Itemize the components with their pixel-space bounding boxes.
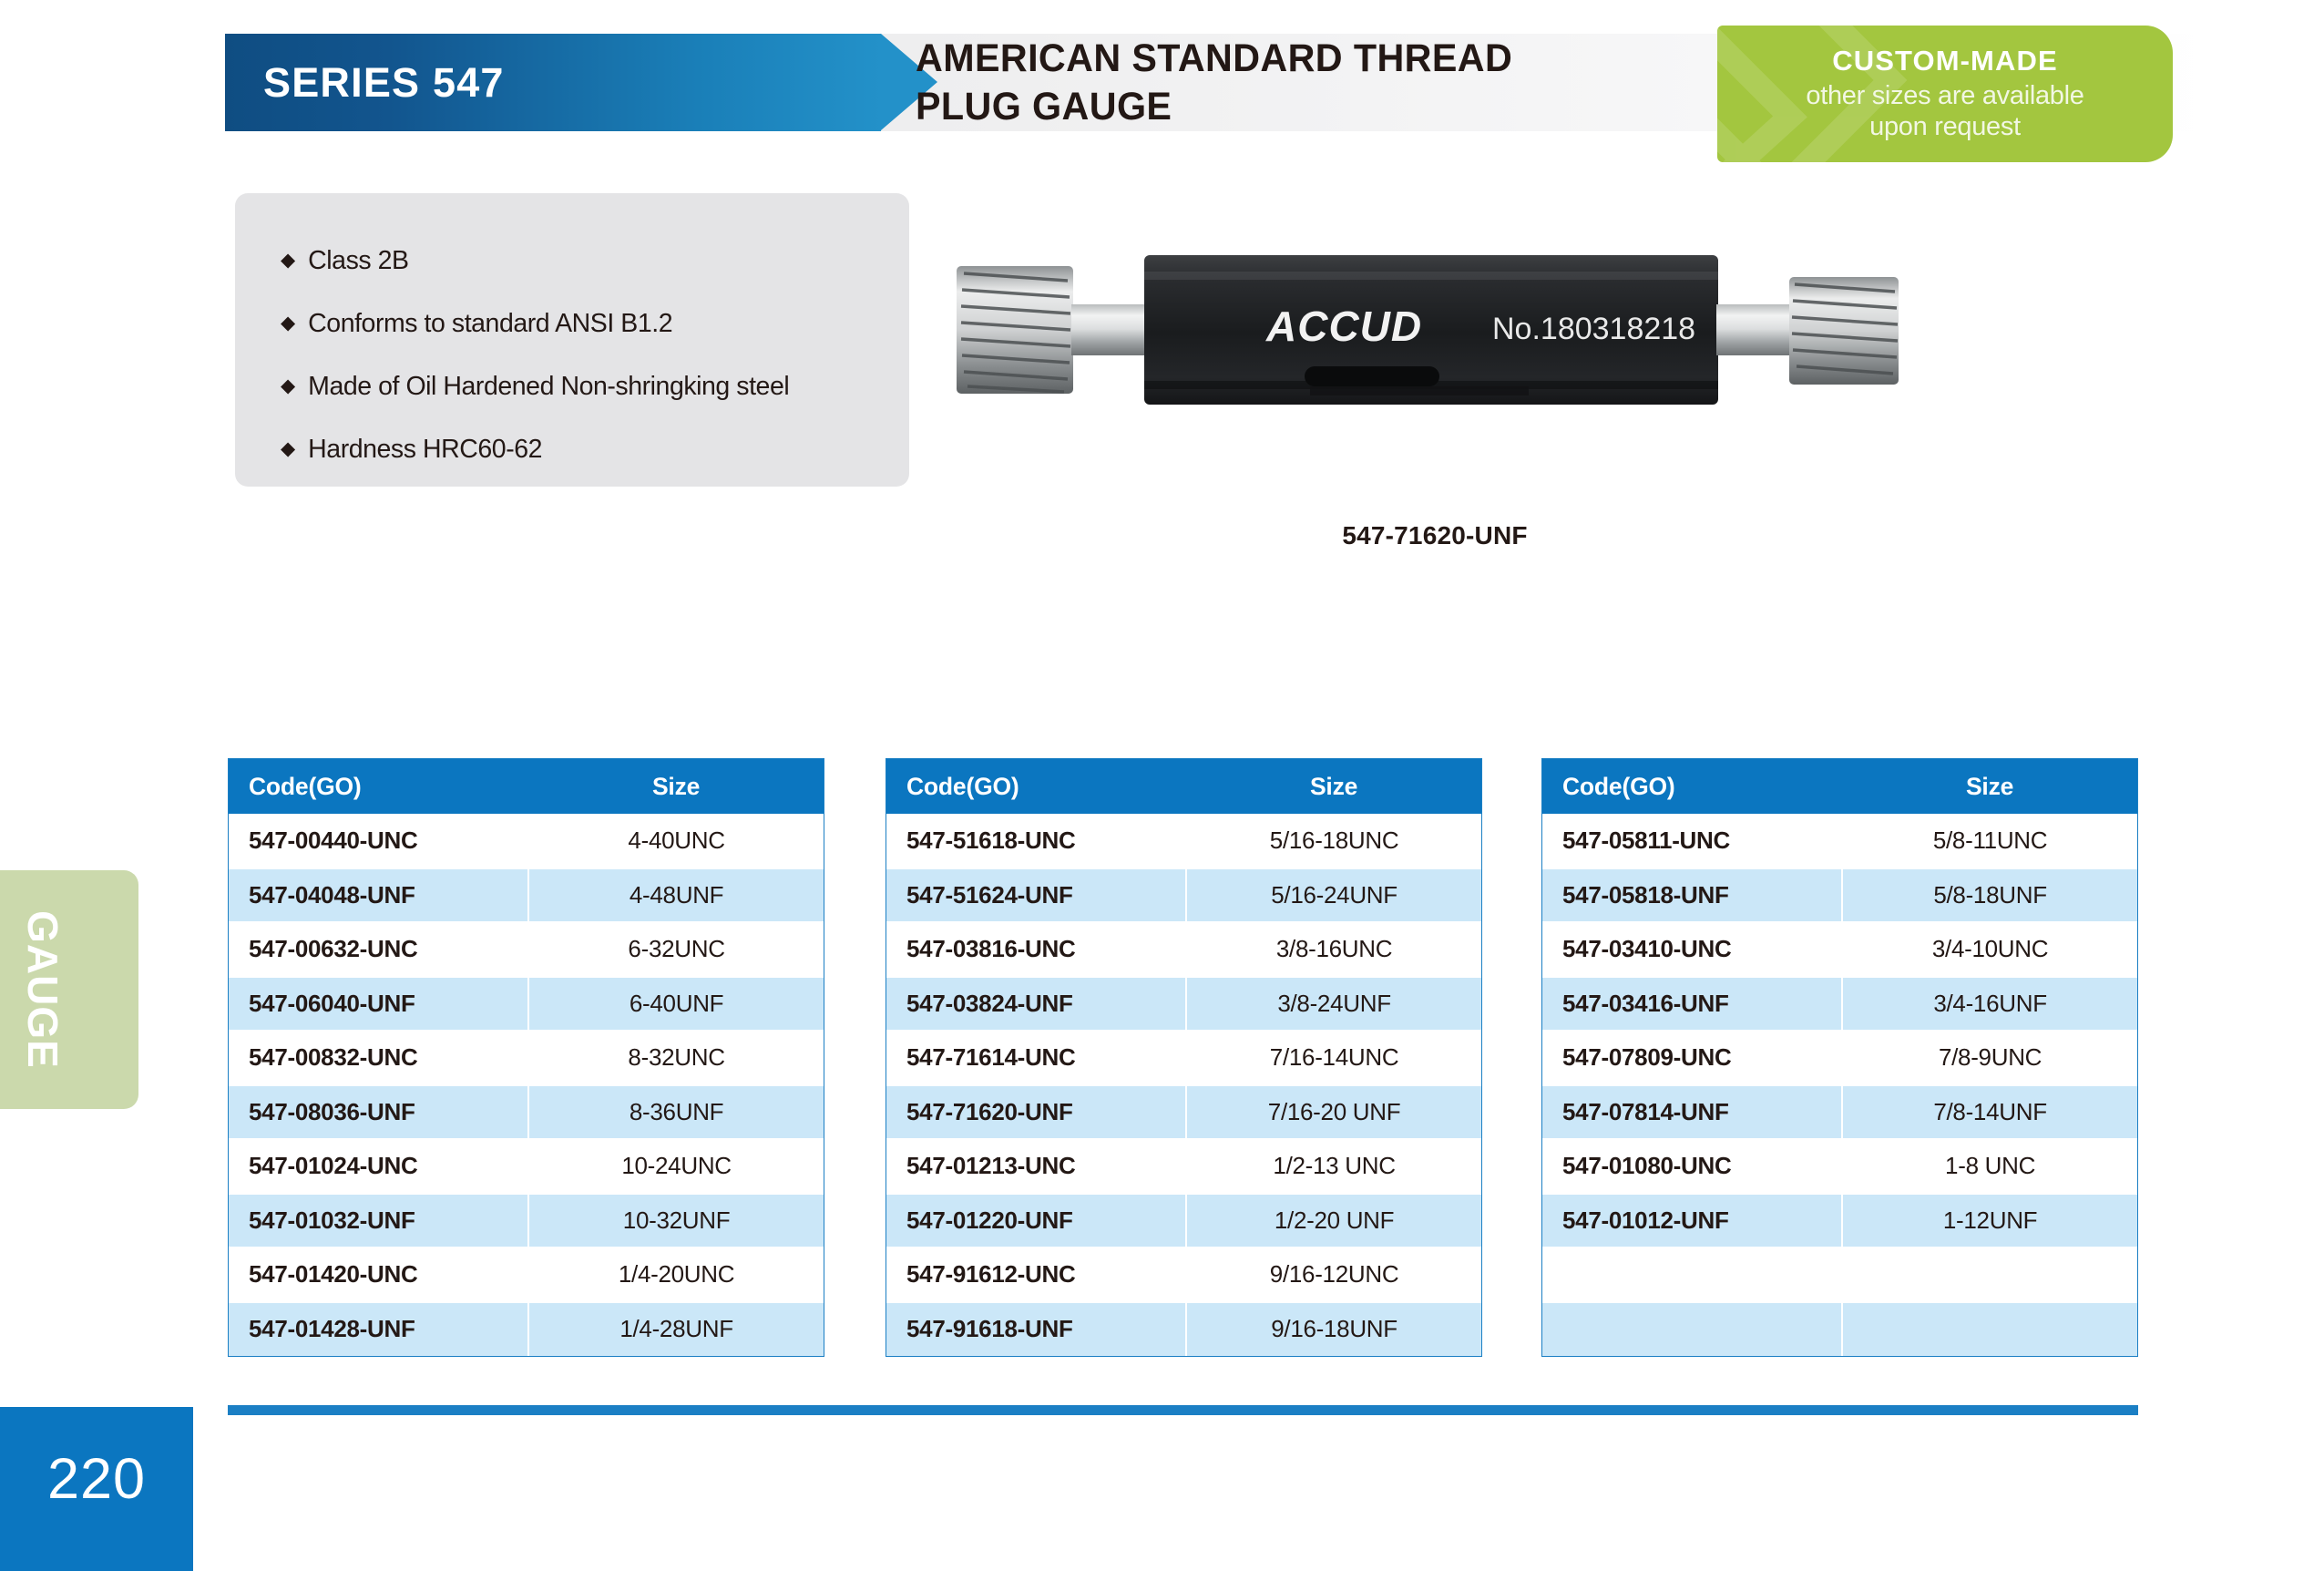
table-row: 547-01032-UNF10-32UNF (229, 1194, 824, 1248)
cell-code: 547-08036-UNF (229, 1085, 528, 1140)
cell-size: 1/4-28UNF (528, 1302, 824, 1357)
cell-size: 1/2-13 UNC (1186, 1139, 1481, 1194)
column-header-code: Code(GO) (1542, 759, 1842, 814)
cell-size: 3/8-16UNC (1186, 922, 1481, 977)
table-row: 547-51624-UNF5/16-24UNF (886, 868, 1481, 923)
cell-size (1842, 1248, 2137, 1302)
cell-code: 547-91618-UNF (886, 1302, 1186, 1357)
column-header-size: Size (528, 759, 824, 814)
cell-size: 5/8-11UNC (1842, 814, 2137, 868)
list-item: ◆ Made of Oil Hardened Non-shringking st… (281, 372, 909, 402)
cell-size: 4-40UNC (528, 814, 824, 868)
page-title: AMERICAN STANDARD THREAD PLUG GAUGE (916, 33, 1729, 133)
table-row: 547-01420-UNC1/4-20UNC (229, 1248, 824, 1302)
cell-code: 547-06040-UNF (229, 977, 528, 1032)
sidebar-tab-label: GAUGE (18, 910, 67, 1069)
feature-text: Hardness HRC60-62 (308, 435, 542, 465)
cell-code: 547-01428-UNF (229, 1302, 528, 1357)
cell-size: 9/16-18UNF (1186, 1302, 1481, 1357)
table-row: 547-71614-UNC7/16-14UNC (886, 1031, 1481, 1085)
cell-code: 547-00440-UNC (229, 814, 528, 868)
table-row: 547-04048-UNF4-48UNF (229, 868, 824, 923)
cell-size: 3/8-24UNF (1186, 977, 1481, 1032)
table-row (1542, 1248, 2137, 1302)
column-header-code: Code(GO) (229, 759, 528, 814)
feature-text: Conforms to standard ANSI B1.2 (308, 309, 672, 339)
table-row: 547-03410-UNC3/4-10UNC (1542, 922, 2137, 977)
table-row: 547-08036-UNF8-36UNF (229, 1085, 824, 1140)
table-row (1542, 1302, 2137, 1357)
table-row: 547-00440-UNC4-40UNC (229, 814, 824, 868)
table-row: 547-01012-UNF1-12UNF (1542, 1194, 2137, 1248)
cell-size: 6-40UNF (528, 977, 824, 1032)
cell-size: 1/2-20 UNF (1186, 1194, 1481, 1248)
diamond-bullet-icon: ◆ (281, 437, 295, 460)
cell-size: 8-36UNF (528, 1085, 824, 1140)
cell-code: 547-01024-UNC (229, 1139, 528, 1194)
cell-size: 9/16-12UNC (1186, 1248, 1481, 1302)
cell-code (1542, 1248, 1842, 1302)
cell-code: 547-03816-UNC (886, 922, 1186, 977)
table-row: 547-01428-UNF1/4-28UNF (229, 1302, 824, 1357)
diamond-bullet-icon: ◆ (281, 375, 295, 397)
cell-code: 547-01420-UNC (229, 1248, 528, 1302)
cell-size: 10-32UNF (528, 1194, 824, 1248)
cell-code: 547-71620-UNF (886, 1085, 1186, 1140)
column-header-code: Code(GO) (886, 759, 1186, 814)
table-row: 547-01213-UNC1/2-13 UNC (886, 1139, 1481, 1194)
cell-code: 547-01080-UNC (1542, 1139, 1842, 1194)
cell-code: 547-00832-UNC (229, 1031, 528, 1085)
cell-code: 547-03410-UNC (1542, 922, 1842, 977)
badge-subtitle-line-2: upon request (1806, 112, 2083, 143)
page-title-line-1: AMERICAN STANDARD THREAD (916, 35, 1729, 83)
cell-size: 4-48UNF (528, 868, 824, 923)
cell-code: 547-03416-UNF (1542, 977, 1842, 1032)
table-row: 547-03824-UNF3/8-24UNF (886, 977, 1481, 1032)
badge-subtitle-line-1: other sizes are available (1806, 81, 2083, 112)
cell-code: 547-03824-UNF (886, 977, 1186, 1032)
cell-code: 547-00632-UNC (229, 922, 528, 977)
cell-size: 10-24UNC (528, 1139, 824, 1194)
column-header-size: Size (1186, 759, 1481, 814)
cell-code: 547-01012-UNF (1542, 1194, 1842, 1248)
table-row: 547-05811-UNC5/8-11UNC (1542, 814, 2137, 868)
table-row: 547-06040-UNF6-40UNF (229, 977, 824, 1032)
list-item: ◆ Class 2B (281, 246, 909, 276)
table-row: 547-07814-UNF7/8-14UNF (1542, 1085, 2137, 1140)
cell-size: 7/8-9UNC (1842, 1031, 2137, 1085)
product-table-1: Code(GO)Size547-00440-UNC4-40UNC547-0404… (228, 758, 824, 1357)
badge-title: CUSTOM-MADE (1832, 45, 2057, 77)
page-number: 220 (0, 1407, 193, 1571)
page-title-line-2: PLUG GAUGE (916, 83, 1729, 131)
feature-text: Class 2B (308, 246, 408, 276)
table-row: 547-00832-UNC8-32UNC (229, 1031, 824, 1085)
cell-size: 7/16-20 UNF (1186, 1085, 1481, 1140)
cell-code: 547-04048-UNF (229, 868, 528, 923)
cell-code: 547-91612-UNC (886, 1248, 1186, 1302)
cell-size: 3/4-10UNC (1842, 922, 2137, 977)
table-row: 547-91612-UNC9/16-12UNC (886, 1248, 1481, 1302)
cell-code: 547-01032-UNF (229, 1194, 528, 1248)
cell-size: 3/4-16UNF (1842, 977, 2137, 1032)
svg-text:ACCUD: ACCUD (1265, 303, 1422, 350)
cell-code: 547-05811-UNC (1542, 814, 1842, 868)
diamond-bullet-icon: ◆ (281, 312, 295, 334)
product-table-2: Code(GO)Size547-51618-UNC5/16-18UNC547-5… (886, 758, 1482, 1357)
feature-text: Made of Oil Hardened Non-shringking stee… (308, 372, 789, 402)
cell-size: 6-32UNC (528, 922, 824, 977)
svg-text:No.180318218: No.180318218 (1492, 312, 1695, 346)
cell-size: 1-12UNF (1842, 1194, 2137, 1248)
list-item: ◆ Conforms to standard ANSI B1.2 (281, 309, 909, 339)
cell-code: 547-51624-UNF (886, 868, 1186, 923)
diamond-bullet-icon: ◆ (281, 249, 295, 272)
table-row: 547-03416-UNF3/4-16UNF (1542, 977, 2137, 1032)
cell-size: 7/8-14UNF (1842, 1085, 2137, 1140)
feature-list: ◆ Class 2B ◆ Conforms to standard ANSI B… (235, 193, 909, 487)
cell-code (1542, 1302, 1842, 1357)
cell-size: 8-32UNC (528, 1031, 824, 1085)
cell-size (1842, 1302, 2137, 1357)
catalog-page: SERIES 547 AMERICAN STANDARD THREAD PLUG… (0, 0, 2324, 1571)
series-banner: SERIES 547 (225, 34, 881, 131)
cell-code: 547-01213-UNC (886, 1139, 1186, 1194)
cell-size: 7/16-14UNC (1186, 1031, 1481, 1085)
cell-code: 547-71614-UNC (886, 1031, 1186, 1085)
cell-code: 547-07814-UNF (1542, 1085, 1842, 1140)
cell-size: 5/8-18UNF (1842, 868, 2137, 923)
table-row: 547-01080-UNC1-8 UNC (1542, 1139, 2137, 1194)
list-item: ◆ Hardness HRC60-62 (281, 435, 909, 465)
cell-size: 1/4-20UNC (528, 1248, 824, 1302)
table-row: 547-00632-UNC6-32UNC (229, 922, 824, 977)
cell-code: 547-01220-UNF (886, 1194, 1186, 1248)
cell-size: 5/16-18UNC (1186, 814, 1481, 868)
table-row: 547-01220-UNF1/2-20 UNF (886, 1194, 1481, 1248)
sidebar-tab-gauge[interactable]: GAUGE (0, 870, 138, 1109)
table-row: 547-01024-UNC10-24UNC (229, 1139, 824, 1194)
series-label: SERIES 547 (263, 59, 505, 107)
footer-divider (228, 1405, 2138, 1415)
cell-size: 5/16-24UNF (1186, 868, 1481, 923)
column-header-size: Size (1842, 759, 2137, 814)
table-row: 547-51618-UNC5/16-18UNC (886, 814, 1481, 868)
cell-size: 1-8 UNC (1842, 1139, 2137, 1194)
product-table-3: Code(GO)Size547-05811-UNC5/8-11UNC547-05… (1541, 758, 2138, 1357)
table-row: 547-03816-UNC3/8-16UNC (886, 922, 1481, 977)
product-image: ACCUD No.180318218 (947, 239, 1922, 421)
product-caption: 547-71620-UNF (947, 521, 1922, 550)
cell-code: 547-07809-UNC (1542, 1031, 1842, 1085)
table-row: 547-91618-UNF9/16-18UNF (886, 1302, 1481, 1357)
thread-plug-gauge-illustration: ACCUD No.180318218 (947, 239, 1922, 421)
custom-made-badge: CUSTOM-MADE other sizes are available up… (1717, 26, 2173, 162)
table-row: 547-07809-UNC7/8-9UNC (1542, 1031, 2137, 1085)
cell-code: 547-51618-UNC (886, 814, 1186, 868)
table-row: 547-71620-UNF7/16-20 UNF (886, 1085, 1481, 1140)
table-row: 547-05818-UNF5/8-18UNF (1542, 868, 2137, 923)
cell-code: 547-05818-UNF (1542, 868, 1842, 923)
